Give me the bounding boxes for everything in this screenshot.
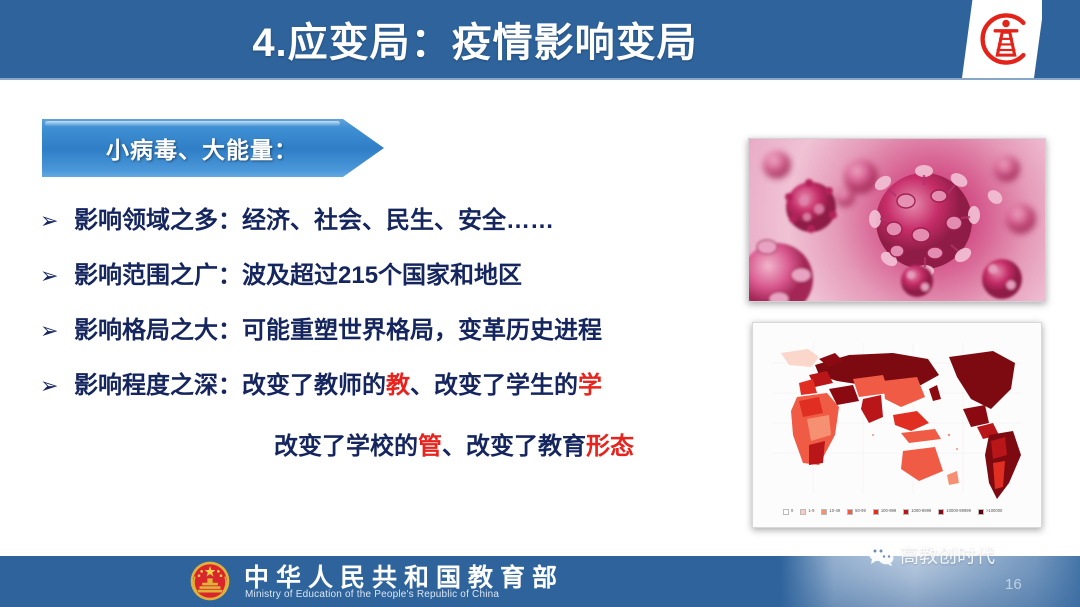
legend-item: 0 <box>783 508 793 515</box>
china-national-emblem-icon <box>188 558 232 604</box>
legend-swatch <box>873 509 879 515</box>
bullet-lead: 影响格局之大： <box>74 317 242 344</box>
legend-swatch <box>903 509 909 515</box>
bullet-text: 影响范围之广：波及超过215个国家和地区 <box>74 261 740 291</box>
wechat-label: 高教创时代 <box>900 541 995 568</box>
bullet-list: ➢ 影响领域之多：经济、社会、民生、安全…… ➢ 影响范围之广：波及超过215个… <box>40 206 740 461</box>
legend-item: 1000-9999 <box>903 508 931 515</box>
legend-label: 1-9 <box>808 508 814 515</box>
wechat-icon <box>868 544 894 566</box>
legend-item: 10-49 <box>821 508 840 515</box>
legend-swatch <box>783 509 789 515</box>
legend-swatch <box>978 509 984 515</box>
bullet-seg: 改变了教师的 <box>242 372 386 399</box>
bullet-lead: 影响领域之多： <box>74 207 242 234</box>
bullet-arrow-icon: ➢ <box>40 316 74 346</box>
bullet-text: 影响格局之大：可能重塑世界格局，变革历史进程 <box>74 316 740 346</box>
coronavirus-photo <box>748 138 1046 302</box>
covid-world-map: 0 1-9 10-49 50-99 100-999 1000-9999 <box>752 322 1042 528</box>
cont-highlight: 形态 <box>586 433 634 460</box>
bullet-lead: 影响程度之深： <box>74 372 242 399</box>
ministry-name-en: Ministry of Education of the People's Re… <box>245 589 499 600</box>
legend-label: 1000-9999 <box>911 508 931 515</box>
bullet-text: 影响程度之深：改变了教师的教、改变了学生的学 <box>74 371 740 401</box>
legend-swatch <box>821 509 827 515</box>
bullet-seg: 、改变了学生的 <box>410 372 578 399</box>
virus-particles-graphic <box>749 139 1045 301</box>
bullet-seg: 经济、社会、民生、安全…… <box>242 207 554 234</box>
world-choropleth-graphic <box>753 323 1041 527</box>
legend-label: >100000 <box>986 508 1002 515</box>
list-item: ➢ 影响程度之深：改变了教师的教、改变了学生的学 <box>40 371 740 401</box>
bullet-arrow-icon: ➢ <box>40 206 74 236</box>
legend-item: 10000-99999 <box>938 508 971 515</box>
legend-item: 100-999 <box>873 508 896 515</box>
header-underline <box>0 78 1080 80</box>
bullet-text: 影响领域之多：经济、社会、民生、安全…… <box>74 206 740 236</box>
institution-logo-icon <box>975 8 1037 70</box>
legend-label: 100-999 <box>881 508 896 515</box>
bullet-lead: 影响范围之广： <box>74 262 242 289</box>
bullet-arrow-icon: ➢ <box>40 371 74 401</box>
bullet-arrow-icon: ➢ <box>40 261 74 291</box>
legend-item: 1-9 <box>800 508 814 515</box>
map-legend: 0 1-9 10-49 50-99 100-999 1000-9999 <box>783 508 1015 515</box>
page-number: 16 <box>1005 576 1022 593</box>
cont-seg: 、改变了教育 <box>442 433 586 460</box>
bullet-seg: 可能重塑世界格局，变革历史进程 <box>242 317 602 344</box>
bullet-seg: 波及超过215个国家和地区 <box>242 262 522 289</box>
legend-label: 50-99 <box>855 508 866 515</box>
page-title: 4.应变局：疫情影响变局 <box>0 0 950 78</box>
legend-item: 50-99 <box>847 508 866 515</box>
section-banner-label: 小病毒、大能量： <box>42 119 362 177</box>
legend-label: 0 <box>791 508 793 515</box>
cont-seg: 改变了学校的 <box>274 433 418 460</box>
list-item: ➢ 影响领域之多：经济、社会、民生、安全…… <box>40 206 740 236</box>
bullet-highlight: 学 <box>578 372 602 399</box>
legend-swatch <box>847 509 853 515</box>
legend-swatch <box>938 509 944 515</box>
legend-label: 10-49 <box>829 508 840 515</box>
slide-root: 4.应变局：疫情影响变局 小病毒、大能量： ➢ 影响领域之多：经济、社会、民生、… <box>0 0 1080 607</box>
wechat-watermark: 高教创时代 <box>868 541 995 568</box>
bullet-highlight: 教 <box>386 372 410 399</box>
cont-highlight: 管 <box>418 433 442 460</box>
legend-item: >100000 <box>978 508 1002 515</box>
list-item: ➢ 影响范围之广：波及超过215个国家和地区 <box>40 261 740 291</box>
bullet-continuation-line: 改变了学校的管、改变了教育形态 <box>274 426 740 461</box>
list-item: ➢ 影响格局之大：可能重塑世界格局，变革历史进程 <box>40 316 740 346</box>
legend-swatch <box>800 509 806 515</box>
legend-label: 10000-99999 <box>946 508 971 515</box>
